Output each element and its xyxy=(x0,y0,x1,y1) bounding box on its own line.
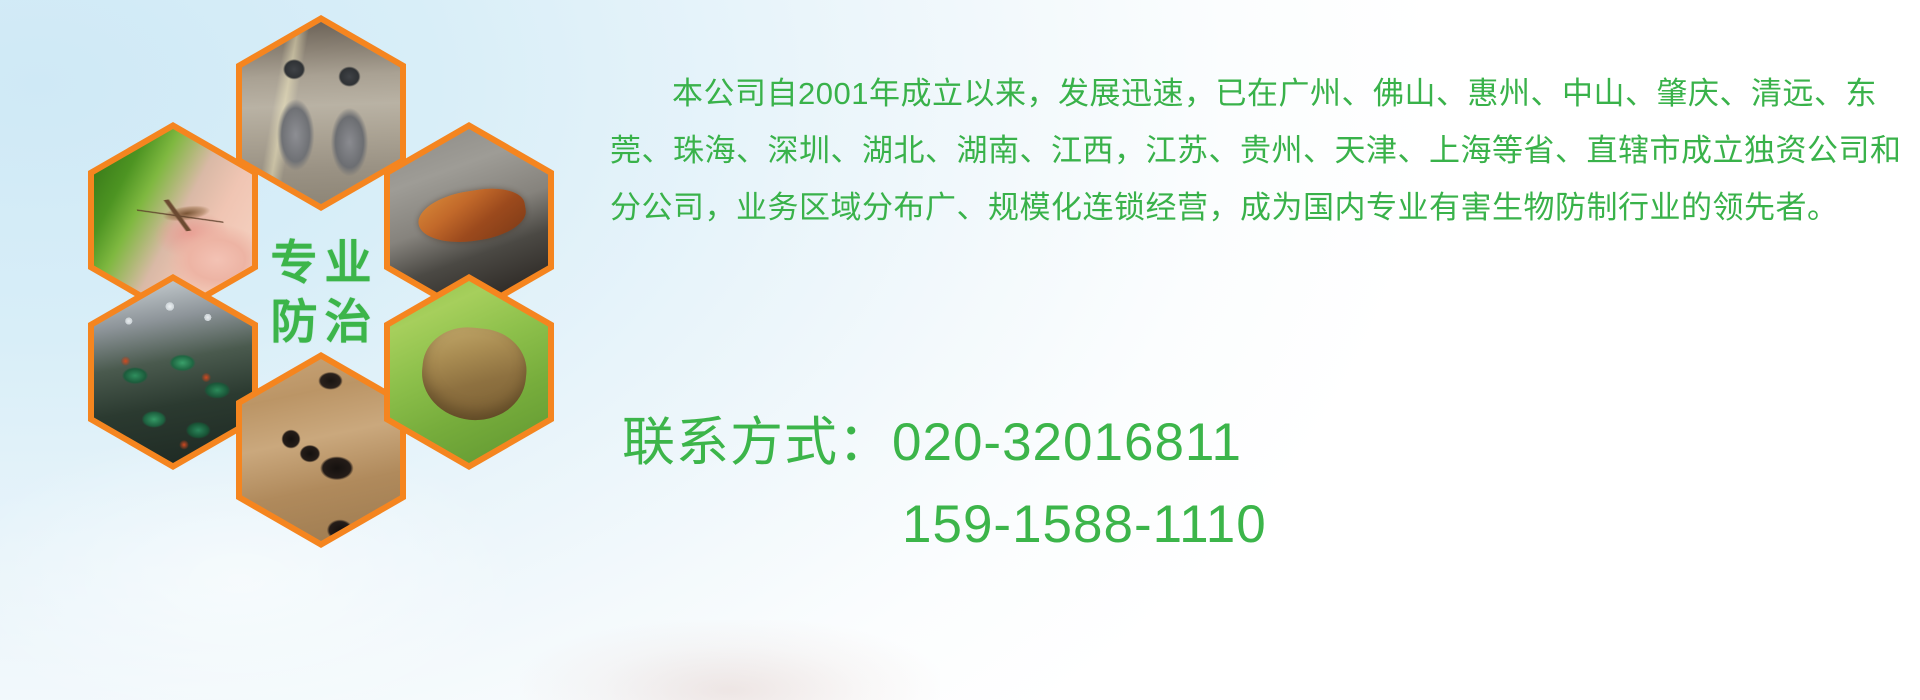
hex-cell-ant[interactable] xyxy=(236,352,406,548)
honeycomb-gallery: 专业 防治 xyxy=(88,12,588,557)
hex-image-rodent xyxy=(242,22,400,204)
hex-image-flies xyxy=(94,281,252,463)
ant-photo xyxy=(242,359,400,541)
stinkbug-photo xyxy=(390,281,548,463)
company-intro-paragraph: 本公司自2001年成立以来，发展迅速，已在广州、佛山、惠州、中山、肇庆、清远、东… xyxy=(610,65,1902,236)
center-slogan-line-2: 防治 xyxy=(264,298,379,345)
hex-image-stinkbug xyxy=(390,281,548,463)
hex-cell-rodent[interactable] xyxy=(236,15,406,211)
hex-cell-stinkbug[interactable] xyxy=(384,274,554,470)
copy-block: 本公司自2001年成立以来，发展迅速，已在广州、佛山、惠州、中山、肇庆、清远、东… xyxy=(610,34,1910,267)
contact-phone-primary[interactable]: 联系方式：020-32016811 xyxy=(610,400,1810,476)
hex-image-ant xyxy=(242,359,400,541)
rodent-photo xyxy=(242,22,400,204)
flies-photo xyxy=(94,281,252,463)
promo-banner: 专业 防治 本公司自2001年成立以来，发展迅速，已在广州、佛山、惠州、中山、肇… xyxy=(0,0,1920,700)
hex-cell-flies[interactable] xyxy=(88,274,258,470)
contact-phone-secondary[interactable]: 159-1588-1110 xyxy=(610,494,1810,555)
background-smudge xyxy=(520,620,940,700)
center-slogan-line-1: 专业 xyxy=(264,239,379,286)
contact-block: 联系方式：020-32016811 159-1588-1110 xyxy=(610,400,1810,555)
